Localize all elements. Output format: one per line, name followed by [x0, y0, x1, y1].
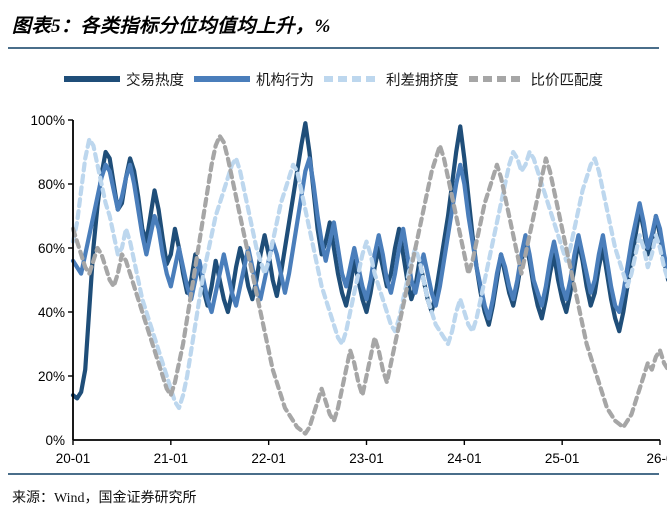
figure-title-row: 图表5：各类指标分位均值均上升，% — [0, 0, 667, 48]
legend-label-2: 机构行为 — [256, 69, 314, 90]
y-tick-label-0: 0% — [45, 433, 65, 448]
y-tick-label-2: 40% — [38, 305, 65, 320]
x-tick-label-3: 23-01 — [349, 451, 384, 466]
legend-label-4: 比价匹配度 — [531, 69, 604, 90]
source-divider — [8, 473, 659, 475]
x-tick-label-1: 21-01 — [154, 451, 189, 466]
legend-label-1: 交易热度 — [126, 69, 184, 90]
y-tick-label-4: 80% — [38, 177, 65, 192]
line-chart: 0%20%40%60%80%100%20-0121-0122-0123-0124… — [0, 96, 667, 466]
legend-item-2[interactable]: 机构行为 — [194, 69, 314, 90]
x-tick-label-0: 20-01 — [56, 451, 91, 466]
figure-source-row: 来源：Wind，国金证券研究所 — [12, 483, 652, 511]
figure-container: 图表5：各类指标分位均值均上升，% 交易热度机构行为利差拥挤度比价匹配度 0%2… — [0, 0, 667, 518]
x-tick-label-6: 26-0 — [646, 451, 667, 466]
page-title: 图表5：各类指标分位均值均上升，% — [12, 11, 331, 38]
legend-swatch-3 — [324, 76, 380, 82]
legend-swatch-1 — [64, 76, 120, 82]
x-tick-label-4: 24-01 — [447, 451, 482, 466]
legend-item-4[interactable]: 比价匹配度 — [469, 69, 604, 90]
chart-plot-area: 0%20%40%60%80%100%20-0121-0122-0123-0124… — [0, 96, 667, 466]
x-tick-label-2: 22-01 — [251, 451, 286, 466]
chart-legend: 交易热度机构行为利差拥挤度比价匹配度 — [0, 64, 667, 94]
legend-swatch-4 — [469, 76, 525, 82]
legend-item-1[interactable]: 交易热度 — [64, 69, 184, 90]
source-note: 来源：Wind，国金证券研究所 — [12, 487, 197, 507]
legend-item-3[interactable]: 利差拥挤度 — [324, 69, 459, 90]
x-tick-label-5: 25-01 — [545, 451, 580, 466]
title-divider — [8, 47, 659, 49]
legend-label-3: 利差拥挤度 — [386, 69, 459, 90]
legend-swatch-2 — [194, 76, 250, 82]
y-tick-label-5: 100% — [30, 113, 65, 128]
y-tick-label-1: 20% — [38, 369, 65, 384]
y-tick-label-3: 60% — [38, 241, 65, 256]
